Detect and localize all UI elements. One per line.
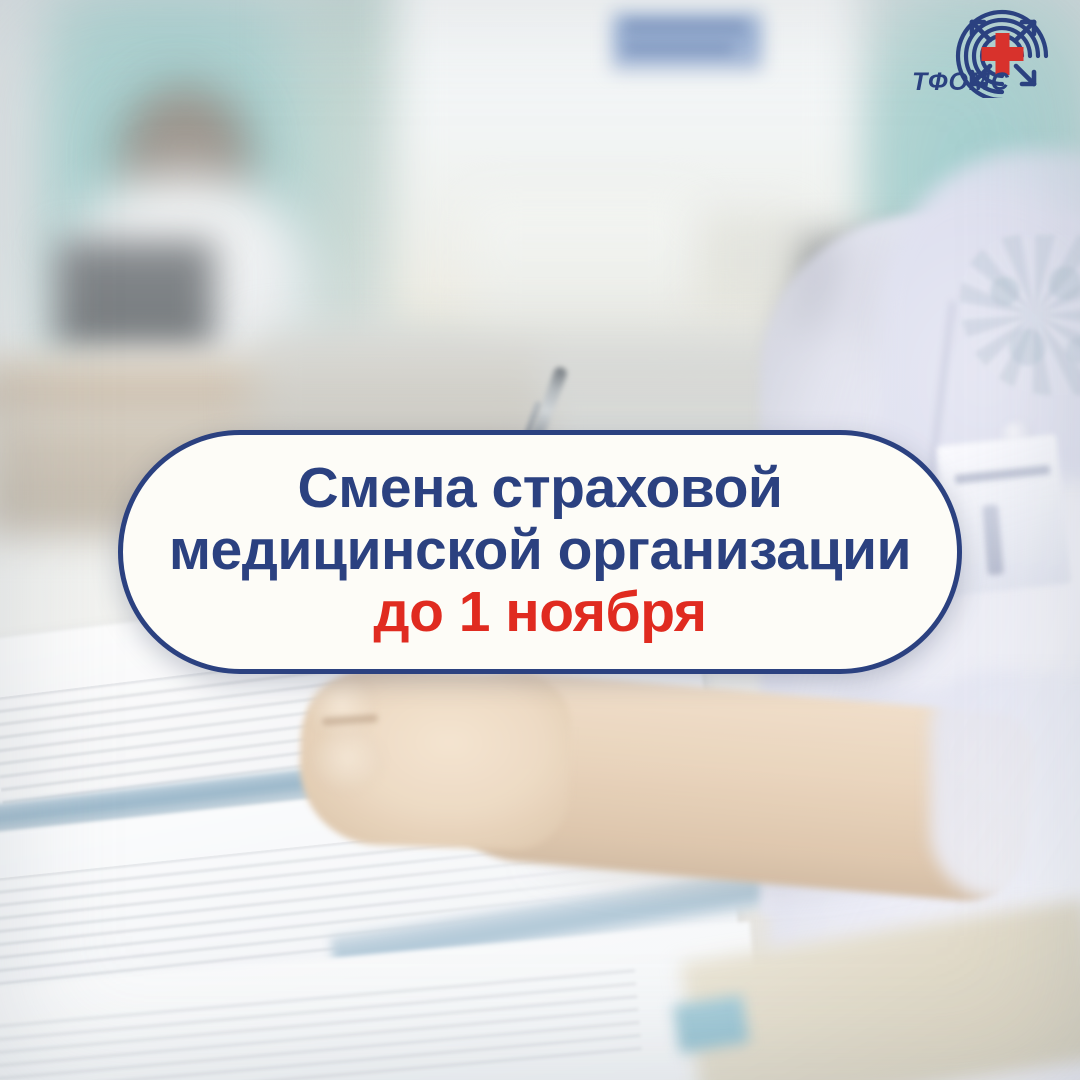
- tfoms-logo-text: ТФОМС: [912, 68, 1010, 97]
- headline-line-1: Смена страховой: [298, 459, 783, 517]
- headline-line-2: медицинской организации: [169, 521, 911, 579]
- headline-deadline: до 1 ноября: [373, 583, 706, 641]
- tfoms-logo: ТФОМС: [918, 6, 1058, 112]
- poster-canvas: ТФОМС Смена страховой медицинской органи…: [0, 0, 1080, 1080]
- headline-card: Смена страховой медицинской организации …: [118, 430, 962, 674]
